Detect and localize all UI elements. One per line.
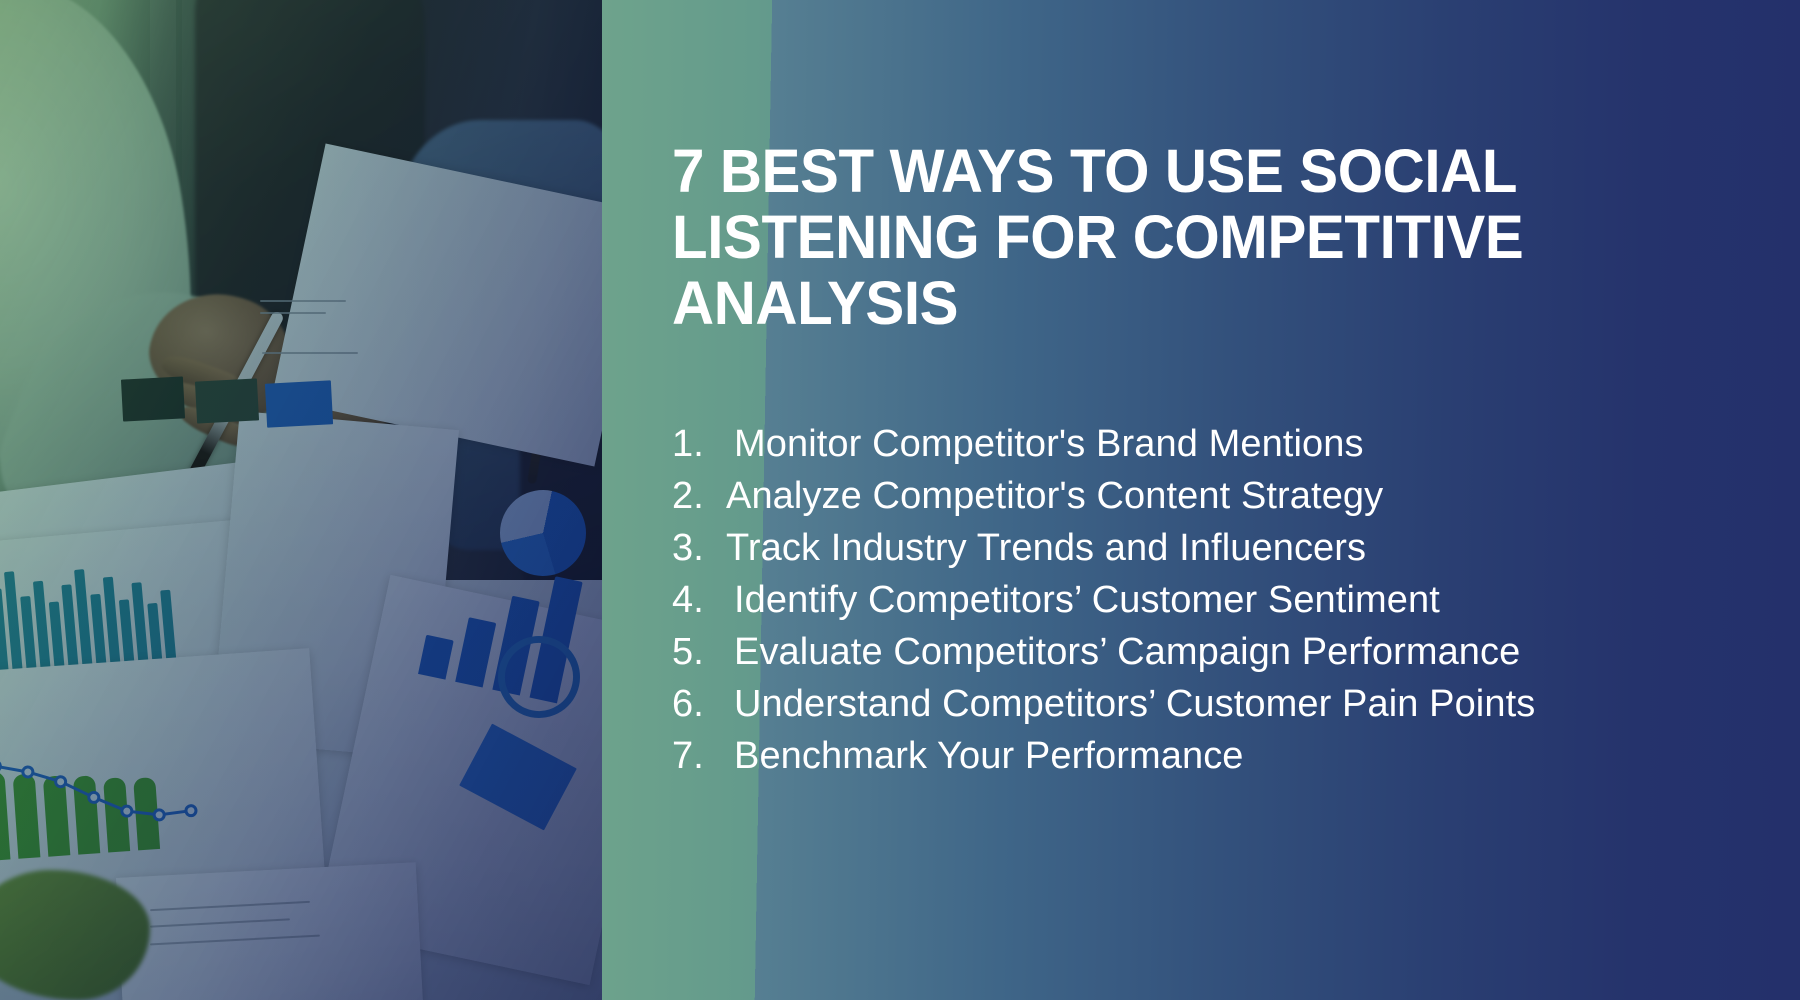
title-line: 7 BEST WAYS TO USE SOCIAL <box>672 137 1517 205</box>
list-item: 1.Monitor Competitor's Brand Mentions <box>672 418 1732 470</box>
list-item: 4.Identify Competitors’ Customer Sentime… <box>672 574 1732 626</box>
title-line: LISTENING FOR COMPETITIVE <box>672 203 1523 271</box>
list-item: 3.Track Industry Trends and Influencers <box>672 522 1732 574</box>
list-item-label: Benchmark Your Performance <box>734 730 1244 782</box>
list-item-number: 1. <box>672 418 734 470</box>
list-item-number: 3. <box>672 522 726 574</box>
list-item-number: 7. <box>672 730 734 782</box>
photo-scene <box>0 0 602 1000</box>
list-item-label: Monitor Competitor's Brand Mentions <box>734 418 1364 470</box>
page-title: 7 BEST WAYS TO USE SOCIAL LISTENING FOR … <box>672 138 1637 336</box>
list-item-label: Analyze Competitor's Content Strategy <box>726 470 1383 522</box>
list-item-label: Track Industry Trends and Influencers <box>726 522 1366 574</box>
photo-tint-overlay <box>0 0 602 1000</box>
list-item-number: 4. <box>672 574 734 626</box>
list-item-number: 5. <box>672 626 734 678</box>
title-line: ANALYSIS <box>672 269 958 337</box>
slide: 7 BEST WAYS TO USE SOCIAL LISTENING FOR … <box>0 0 1800 1000</box>
list-item-label: Identify Competitors’ Customer Sentiment <box>734 574 1440 626</box>
content-panel: 7 BEST WAYS TO USE SOCIAL LISTENING FOR … <box>602 0 1800 1000</box>
list-item-number: 2. <box>672 470 726 522</box>
list-item: 2.Analyze Competitor's Content Strategy <box>672 470 1732 522</box>
list-item-label: Understand Competitors’ Customer Pain Po… <box>734 678 1535 730</box>
list-item-label: Evaluate Competitors’ Campaign Performan… <box>734 626 1520 678</box>
hero-photo <box>0 0 602 1000</box>
list-item: 6.Understand Competitors’ Customer Pain … <box>672 678 1732 730</box>
list-item: 5.Evaluate Competitors’ Campaign Perform… <box>672 626 1732 678</box>
key-points-list: 1.Monitor Competitor's Brand Mentions2.A… <box>672 418 1732 782</box>
list-item: 7.Benchmark Your Performance <box>672 730 1732 782</box>
list-item-number: 6. <box>672 678 734 730</box>
